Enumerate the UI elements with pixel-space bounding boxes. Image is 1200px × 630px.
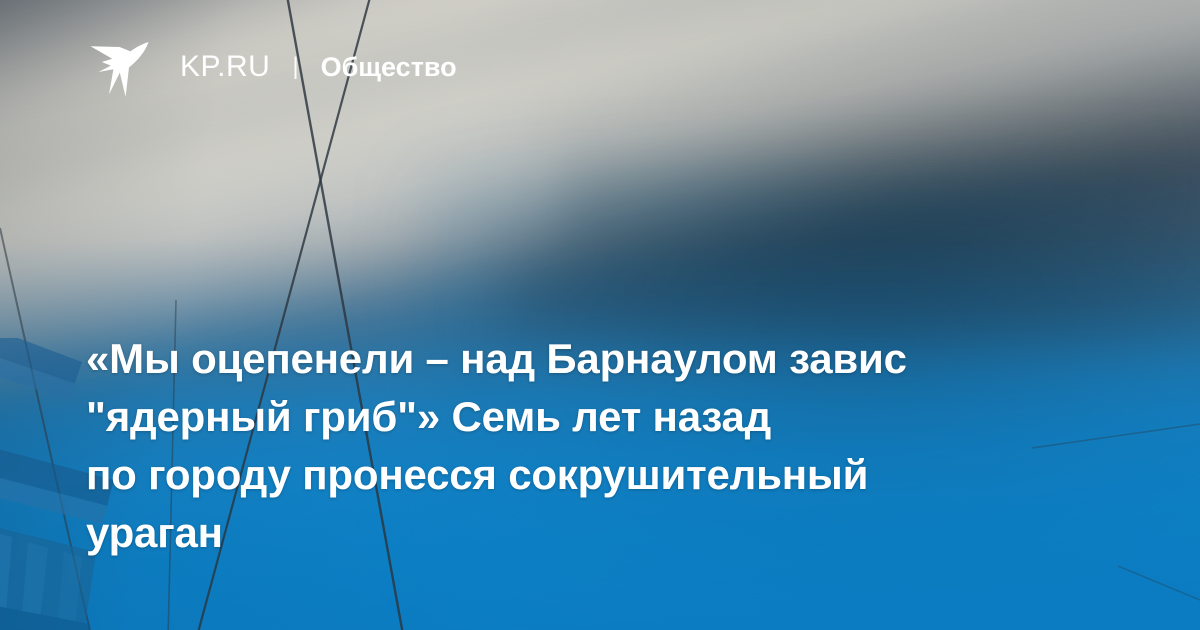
swallow-bird-logo-icon[interactable] <box>88 36 156 98</box>
headline-text: «Мы оцепенели – над Барнаулом завис "яде… <box>86 330 1096 562</box>
brand-label[interactable]: KP.RU <box>180 50 270 84</box>
social-share-card: KP.RU | Общество «Мы оцепенели – над Бар… <box>0 0 1200 630</box>
rubric-label[interactable]: Общество <box>321 52 457 83</box>
card-header: KP.RU | Общество <box>88 36 457 98</box>
header-divider: | <box>292 53 298 81</box>
